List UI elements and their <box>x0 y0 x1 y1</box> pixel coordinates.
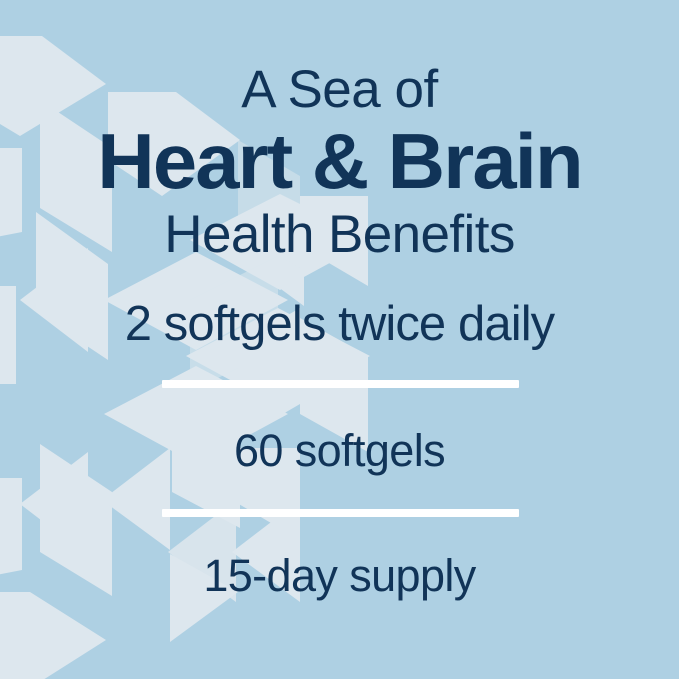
divider-above-count <box>162 380 519 388</box>
subheading-text: Health Benefits <box>0 208 679 261</box>
eyebrow-text: A Sea of <box>0 63 679 116</box>
fact-supply: 15-day supply <box>0 553 679 598</box>
page-title: Heart & Brain <box>0 122 679 200</box>
poster-content: A Sea of Heart & Brain Health Benefits 2… <box>0 0 679 679</box>
product-benefit-poster: A Sea of Heart & Brain Health Benefits 2… <box>0 0 679 679</box>
fact-count: 60 softgels <box>0 428 679 473</box>
fact-dosage: 2 softgels twice daily <box>0 300 679 349</box>
divider-above-supply <box>162 509 519 517</box>
